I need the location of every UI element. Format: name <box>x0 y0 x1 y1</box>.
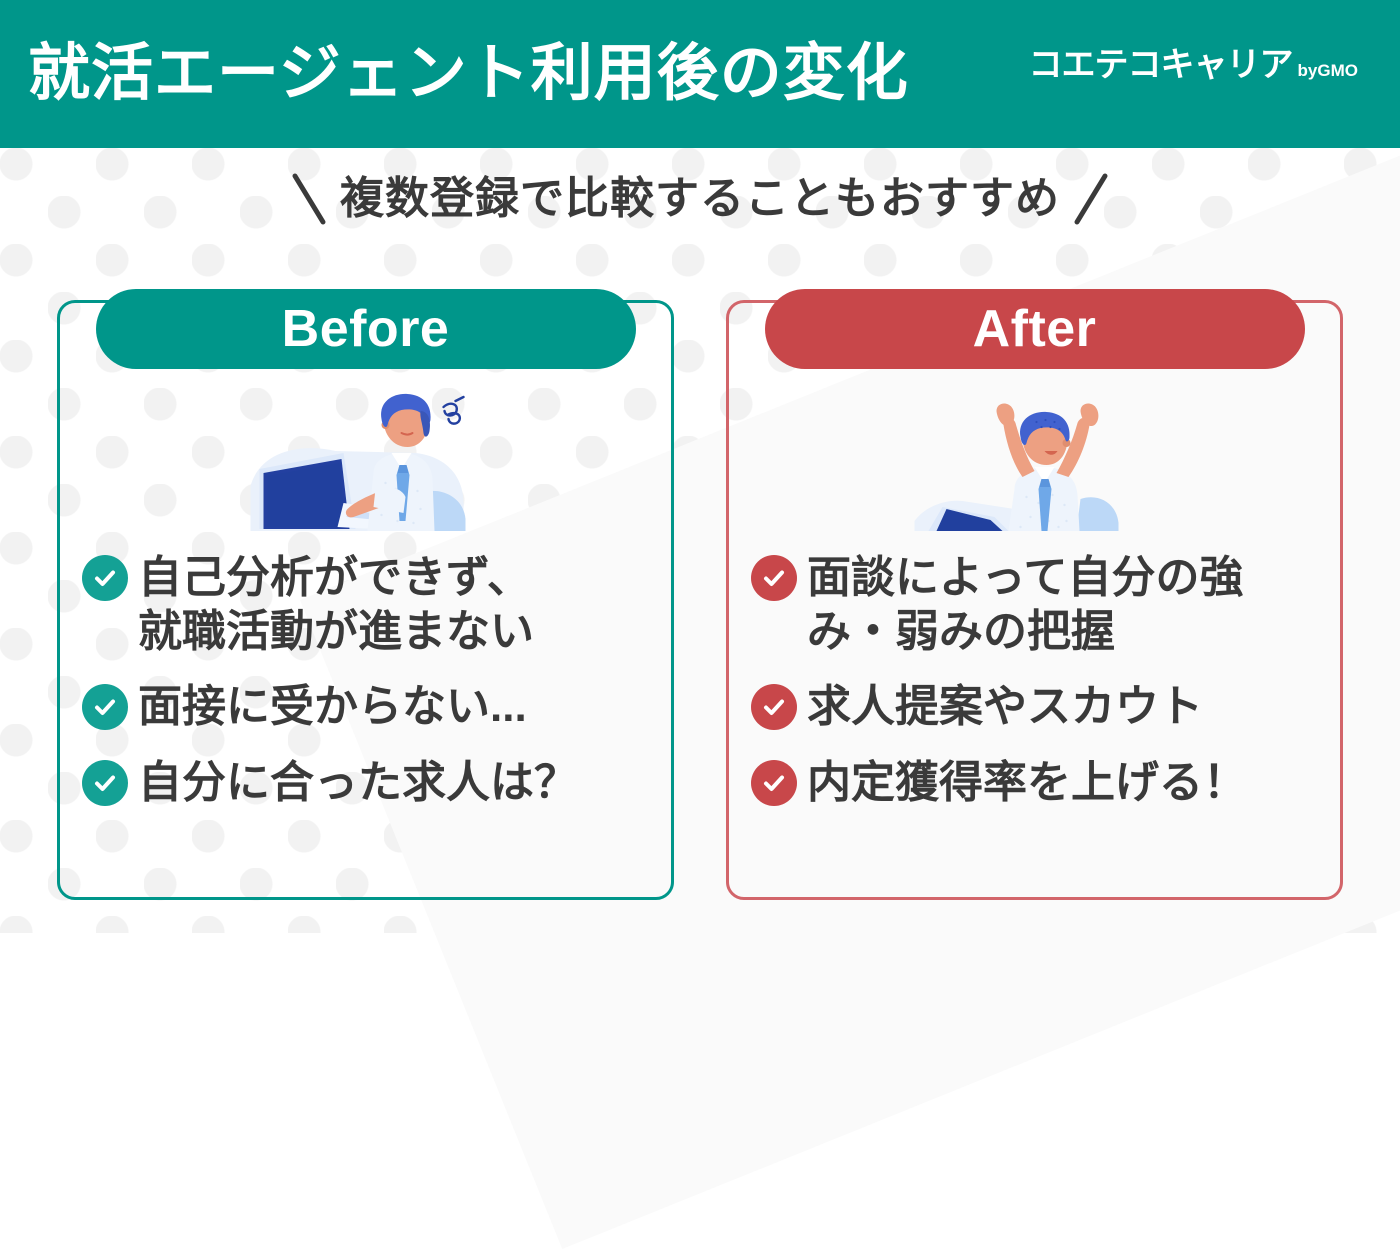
subtitle-text: 複数登録で比較することもおすすめ <box>340 177 1060 221</box>
brand-logo-suffix: byGMO <box>1298 61 1358 81</box>
backslash-stroke-icon <box>290 170 328 228</box>
list-item-label: 求人提案やスカウト <box>807 680 1203 734</box>
header-bar: 就活エージェント利用後の変化 コエテコキャリア byGMO <box>0 0 1400 148</box>
list-item: 内定獲得率を上げる！ <box>751 756 1322 810</box>
list-item: 面接に受からない... <box>82 680 653 734</box>
check-circle-icon <box>82 760 128 806</box>
page-title: 就活エージェント利用後の変化 <box>28 43 909 105</box>
bullet-list-after: 面談によって自分の強 み・弱みの把握 求人提案やスカウト 内定獲得率を上げる！ <box>751 551 1322 810</box>
list-item: 自分に合った求人は？ <box>82 756 653 810</box>
badge-before: Before <box>96 289 636 369</box>
check-circle-icon <box>751 760 797 806</box>
list-item-label: 面接に受からない... <box>138 680 527 734</box>
card-after: After <box>726 300 1343 900</box>
list-item-label: 自分に合った求人は？ <box>138 756 578 810</box>
list-item-label: 面談によって自分の強 み・弱みの把握 <box>807 551 1243 658</box>
list-item-label: 自己分析ができず、 就職活動が進まない <box>138 551 534 658</box>
list-item-label: 内定獲得率を上げる！ <box>807 756 1247 810</box>
list-item: 面談によって自分の強 み・弱みの把握 <box>751 551 1322 658</box>
bullet-list-before: 自己分析ができず、 就職活動が進まない 面接に受からない... 自分に合った求人… <box>82 551 653 810</box>
brand-logo: コエテコキャリア byGMO <box>1029 48 1358 82</box>
check-circle-icon <box>82 555 128 601</box>
card-before: Before <box>57 300 674 900</box>
celebrating-man-arms-raised-illustration <box>729 381 1340 556</box>
list-item: 求人提案やスカウト <box>751 680 1322 734</box>
badge-after: After <box>765 289 1305 369</box>
check-circle-icon <box>751 684 797 730</box>
check-circle-icon <box>751 555 797 601</box>
list-item: 自己分析ができず、 就職活動が進まない <box>82 551 653 658</box>
stressed-man-at-computer-illustration <box>60 381 671 556</box>
slash-stroke-icon <box>1072 170 1110 228</box>
check-circle-icon <box>82 684 128 730</box>
subtitle-row: 複数登録で比較することもおすすめ <box>0 170 1400 228</box>
brand-logo-text: コエテコキャリア <box>1029 48 1293 82</box>
